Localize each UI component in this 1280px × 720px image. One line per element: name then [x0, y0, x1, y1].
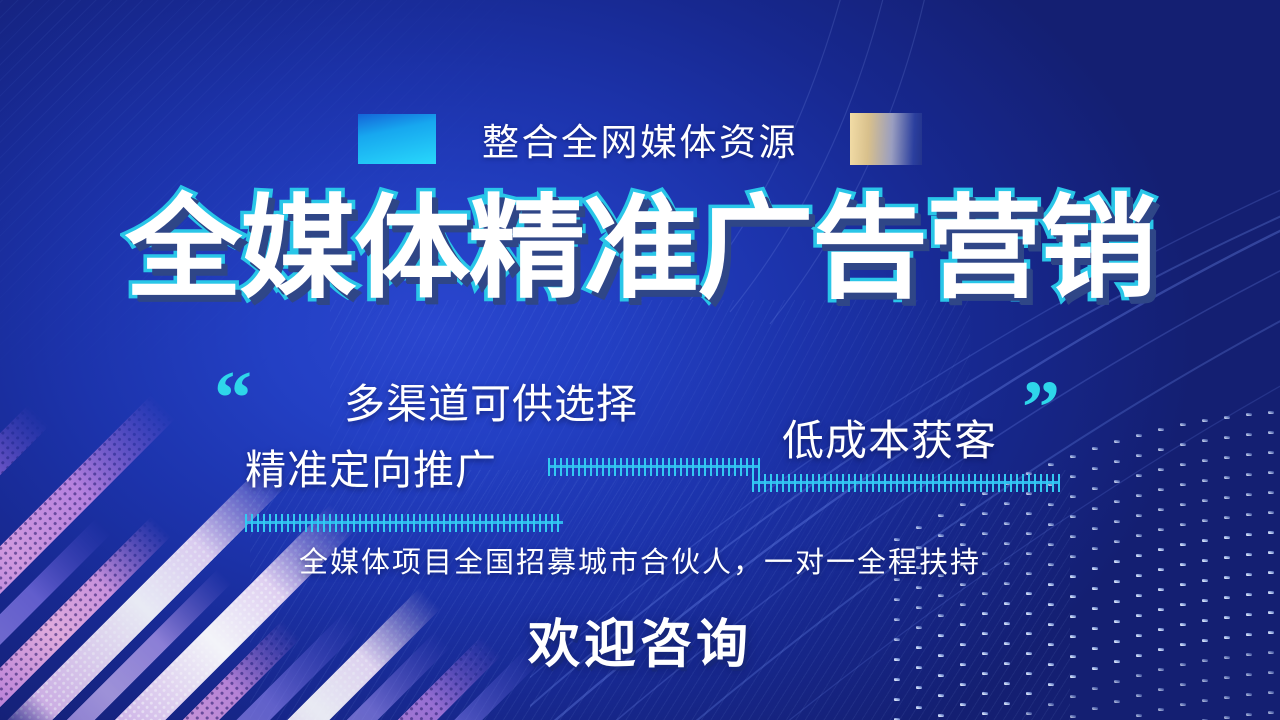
promo-banner: 整合全网媒体资源 全媒体精准广告营销 “ 多渠道可供选择 精准定向推广 低成本获…	[0, 0, 1280, 720]
banner-headline: 全媒体精准广告营销	[125, 186, 1155, 311]
hatched-rule-3	[752, 474, 1060, 492]
hatched-rule-1	[548, 458, 760, 476]
banner-content: 整合全网媒体资源 全媒体精准广告营销 “ 多渠道可供选择 精准定向推广 低成本获…	[0, 0, 1280, 720]
subtitle-row: 整合全网媒体资源	[0, 112, 1280, 166]
hatched-rule-2	[245, 514, 563, 532]
feature-highlights: “ 多渠道可供选择 精准定向推广 低成本获客 ”	[0, 352, 1280, 512]
feature-item-targeted-promotion: 精准定向推广	[245, 436, 497, 496]
headline-wrap: 全媒体精准广告营销	[0, 186, 1280, 311]
feature-item-low-cost: 低成本获客	[782, 407, 997, 468]
banner-subtitle: 整合全网媒体资源	[482, 112, 798, 166]
call-to-action[interactable]: 欢迎咨询	[0, 602, 1280, 677]
accent-block-gold	[850, 113, 922, 165]
banner-tagline: 全媒体项目全国招募城市合伙人，一对一全程扶持	[0, 539, 1280, 581]
quote-open-icon: “	[214, 360, 252, 436]
accent-block-cyan	[358, 114, 436, 164]
quote-close-icon: ”	[1022, 370, 1060, 446]
feature-item-multi-channel: 多渠道可供选择	[344, 370, 638, 430]
